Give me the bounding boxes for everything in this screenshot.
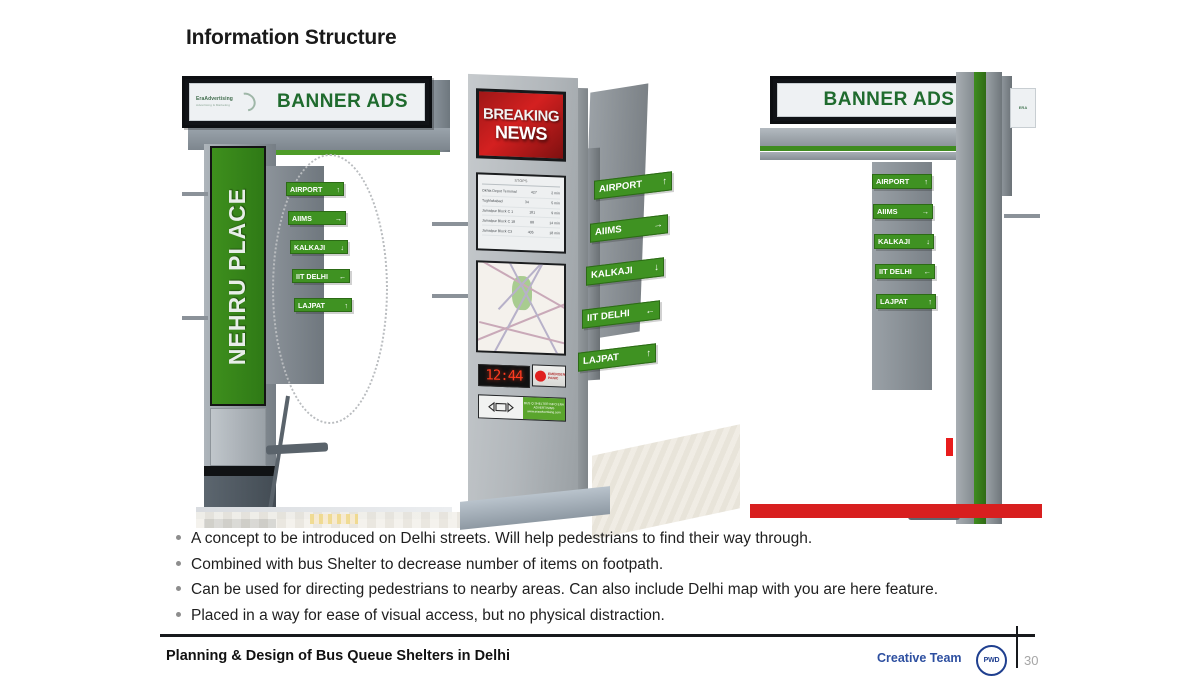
direction-sign-name: AIRPORT bbox=[599, 179, 642, 195]
direction-arrow-icon: ↑ bbox=[646, 348, 651, 360]
rendering-column-1: EraAdvertising Advertising & Marketing B… bbox=[182, 66, 452, 528]
direction-arrow-icon: ↑ bbox=[344, 301, 348, 310]
column2-info-text-block: BUS Q SHELTER INFO ERA ADVERTISING www.e… bbox=[523, 397, 565, 421]
bullet-text: Placed in a way for ease of visual acces… bbox=[191, 605, 665, 627]
schedule-time: 14 min bbox=[549, 221, 560, 225]
direction-arrow-icon: ↑ bbox=[336, 185, 340, 194]
direction-sign-airport: AIRPORT↑ bbox=[872, 174, 932, 189]
news-line-2: NEWS bbox=[495, 123, 547, 143]
direction-sign-name: IIT DELHI bbox=[879, 267, 912, 276]
arrows-logo-icon bbox=[486, 400, 516, 415]
direction-sign-name: AIRPORT bbox=[876, 177, 909, 186]
schedule-stop: Jamalpur Block C3 bbox=[482, 228, 512, 233]
operator-logo-icon bbox=[479, 395, 523, 419]
emergency-dot-icon bbox=[535, 370, 546, 381]
bullet-text: Can be used for directing pedestrians to… bbox=[191, 579, 938, 601]
footer-vertical-divider bbox=[1016, 626, 1018, 668]
column2-rail-upper bbox=[432, 222, 468, 226]
bullet-list: A concept to be introduced on Delhi stre… bbox=[176, 528, 1016, 630]
column2-digital-clock: 12:44 bbox=[478, 364, 530, 388]
direction-arrow-icon: ↓ bbox=[654, 262, 659, 274]
column1-banner-label: BANNER ADS bbox=[277, 91, 408, 113]
schedule-row: Jamalpur Block C340518 min bbox=[482, 226, 560, 239]
bullet-text: A concept to be introduced on Delhi stre… bbox=[191, 528, 812, 550]
footer-divider bbox=[160, 634, 1035, 637]
direction-sign-kalkaji: KALKAJI↓ bbox=[874, 234, 934, 249]
page-number: 30 bbox=[1024, 653, 1038, 668]
direction-arrow-icon: → bbox=[922, 207, 929, 216]
column3-banner-label: BANNER ADS bbox=[824, 89, 955, 111]
schedule-stop: Jamalpur Block C 18 bbox=[482, 218, 515, 223]
direction-sign-name: LAJPAT bbox=[880, 297, 908, 306]
schedule-stop: Tughlakabad bbox=[482, 199, 503, 204]
bullet-item: Combined with bus Shelter to decrease nu… bbox=[176, 554, 1016, 576]
direction-sign-lajpat: LAJPAT↑ bbox=[876, 294, 936, 309]
pwd-logo-icon: PWD bbox=[976, 645, 1007, 676]
column3-side-logo: ERA bbox=[1010, 88, 1036, 128]
direction-arrow-icon: ↑ bbox=[924, 177, 928, 186]
direction-arrow-icon: → bbox=[335, 214, 342, 223]
column1-banner-ads-panel: EraAdvertising Advertising & Marketing B… bbox=[182, 76, 432, 128]
bullet-dot-icon bbox=[176, 535, 181, 540]
direction-sign-airport: AIRPORT↑ bbox=[286, 182, 344, 196]
clock-value: 12:44 bbox=[485, 367, 522, 384]
direction-arrow-icon: ↓ bbox=[926, 237, 930, 246]
direction-sign-name: KALKAJI bbox=[878, 237, 910, 246]
era-logo-tagline: Advertising & Marketing bbox=[196, 103, 233, 107]
bullet-dot-icon bbox=[176, 612, 181, 617]
schedule-code: 427 bbox=[531, 191, 537, 195]
column2-rail-lower bbox=[432, 294, 468, 298]
column2-map-panel bbox=[476, 260, 566, 355]
direction-arrow-icon: ↓ bbox=[340, 243, 344, 252]
direction-arrow-icon: ↑ bbox=[928, 297, 932, 306]
column3-rail bbox=[1004, 214, 1040, 218]
column1-location-sign: NEHRU PLACE bbox=[210, 146, 266, 406]
column2-info-text: BUS Q SHELTER INFO ERA ADVERTISING www.e… bbox=[524, 402, 564, 415]
direction-sign-aiims: AIIMS→ bbox=[873, 204, 933, 219]
schedule-stop: Jamalpur Block C 1 bbox=[482, 208, 513, 213]
column1-location-label: NEHRU PLACE bbox=[225, 187, 252, 364]
column1-banner-face: EraAdvertising Advertising & Marketing B… bbox=[189, 83, 425, 121]
rendering-column-2: BREAKING NEWS STOPS Okhla Depot Terminal… bbox=[460, 62, 740, 524]
direction-sign-iit-delhi: IIT DELHI← bbox=[292, 269, 350, 283]
direction-arrow-icon: ← bbox=[339, 272, 346, 281]
direction-sign-aiims: AIIMS→ bbox=[288, 211, 346, 225]
schedule-time: 5 min bbox=[551, 201, 560, 205]
schedule-time: 2 min bbox=[551, 192, 560, 196]
schedule-code: 34 bbox=[525, 200, 529, 204]
swoosh-icon bbox=[233, 89, 260, 115]
column2-emergency-button[interactable]: EMERGENCY PANIC bbox=[532, 364, 566, 387]
direction-sign-iit-delhi: IIT DELHI← bbox=[875, 264, 935, 279]
bullet-item: A concept to be introduced on Delhi stre… bbox=[176, 528, 1016, 550]
schedule-stop: Okhla Depot Terminal bbox=[482, 189, 517, 194]
column3-pole-left bbox=[956, 72, 974, 524]
direction-sign-kalkaji: KALKAJI↓ bbox=[290, 240, 348, 254]
schedule-code: 181 bbox=[529, 210, 535, 214]
slide-canvas: Information Structure EraAdvertising Adv… bbox=[0, 0, 1200, 675]
direction-sign-name: AIIMS bbox=[877, 207, 898, 216]
page-title: Information Structure bbox=[186, 26, 396, 50]
direction-sign-name: AIRPORT bbox=[290, 185, 322, 194]
column1-bench bbox=[266, 442, 328, 454]
footer-team-label: Creative Team bbox=[877, 651, 962, 665]
direction-sign-name: KALKAJI bbox=[591, 265, 633, 281]
schedule-time: 18 min bbox=[549, 231, 560, 235]
column1-green-rail bbox=[250, 150, 440, 155]
schedule-code: 88 bbox=[530, 220, 534, 224]
schedule-rows: Okhla Depot Terminal4272 minTughlakabad3… bbox=[482, 187, 560, 239]
column1-tactile-paving bbox=[310, 514, 358, 524]
direction-arrow-icon: ← bbox=[924, 267, 931, 276]
column3-pole-right bbox=[986, 72, 1002, 524]
emergency-label: EMERGENCY PANIC bbox=[548, 372, 566, 381]
column3-red-ground-band bbox=[750, 504, 1042, 518]
schedule-time: 9 min bbox=[551, 211, 560, 215]
column3-pole-green-strip bbox=[974, 72, 986, 524]
column1-dark-band bbox=[204, 466, 276, 476]
column2-pavement bbox=[592, 424, 740, 539]
column1-rail-lower bbox=[182, 316, 208, 320]
column3-side-logo-text: ERA bbox=[1019, 106, 1027, 111]
direction-sign-name: AIIMS bbox=[595, 224, 622, 238]
direction-sign-name: IIT DELHI bbox=[587, 308, 630, 324]
direction-arrow-icon: ← bbox=[645, 305, 655, 317]
direction-sign-name: LAJPAT bbox=[298, 301, 325, 310]
bullet-item: Placed in a way for ease of visual acces… bbox=[176, 605, 1016, 627]
footer-title: Planning & Design of Bus Queue Shelters … bbox=[166, 648, 510, 664]
column2-news-screen: BREAKING NEWS bbox=[476, 88, 566, 161]
pwd-logo-text: PWD bbox=[984, 657, 1000, 664]
direction-sign-name: LAJPAT bbox=[583, 352, 619, 367]
bullet-item: Can be used for directing pedestrians to… bbox=[176, 579, 1016, 601]
bullet-text: Combined with bus Shelter to decrease nu… bbox=[191, 554, 663, 576]
direction-sign-name: KALKAJI bbox=[294, 243, 325, 252]
concept-renderings: EraAdvertising Advertising & Marketing B… bbox=[160, 62, 1040, 524]
column2-schedule-panel: STOPS Okhla Depot Terminal4272 minTughla… bbox=[476, 172, 566, 253]
direction-arrow-icon: → bbox=[653, 219, 663, 231]
column3-red-marker bbox=[946, 438, 953, 456]
direction-arrow-icon: ↑ bbox=[662, 176, 667, 188]
direction-sign-name: IIT DELHI bbox=[296, 272, 328, 281]
direction-sign-name: AIIMS bbox=[292, 214, 312, 223]
bullet-dot-icon bbox=[176, 561, 181, 566]
bullet-dot-icon bbox=[176, 586, 181, 591]
column1-rail-upper bbox=[182, 192, 208, 196]
schedule-code: 405 bbox=[528, 230, 534, 234]
column2-info-panel: BUS Q SHELTER INFO ERA ADVERTISING www.e… bbox=[478, 394, 566, 421]
rendering-column-3: BANNER ADS ERA AIRPORT↑AIIMS→KALKAJI↓IIT… bbox=[760, 62, 1040, 524]
direction-sign-lajpat: LAJPAT↑ bbox=[294, 298, 352, 312]
era-advertising-logo: EraAdvertising Advertising & Marketing bbox=[196, 93, 256, 111]
column1-lower-panel bbox=[210, 408, 266, 466]
